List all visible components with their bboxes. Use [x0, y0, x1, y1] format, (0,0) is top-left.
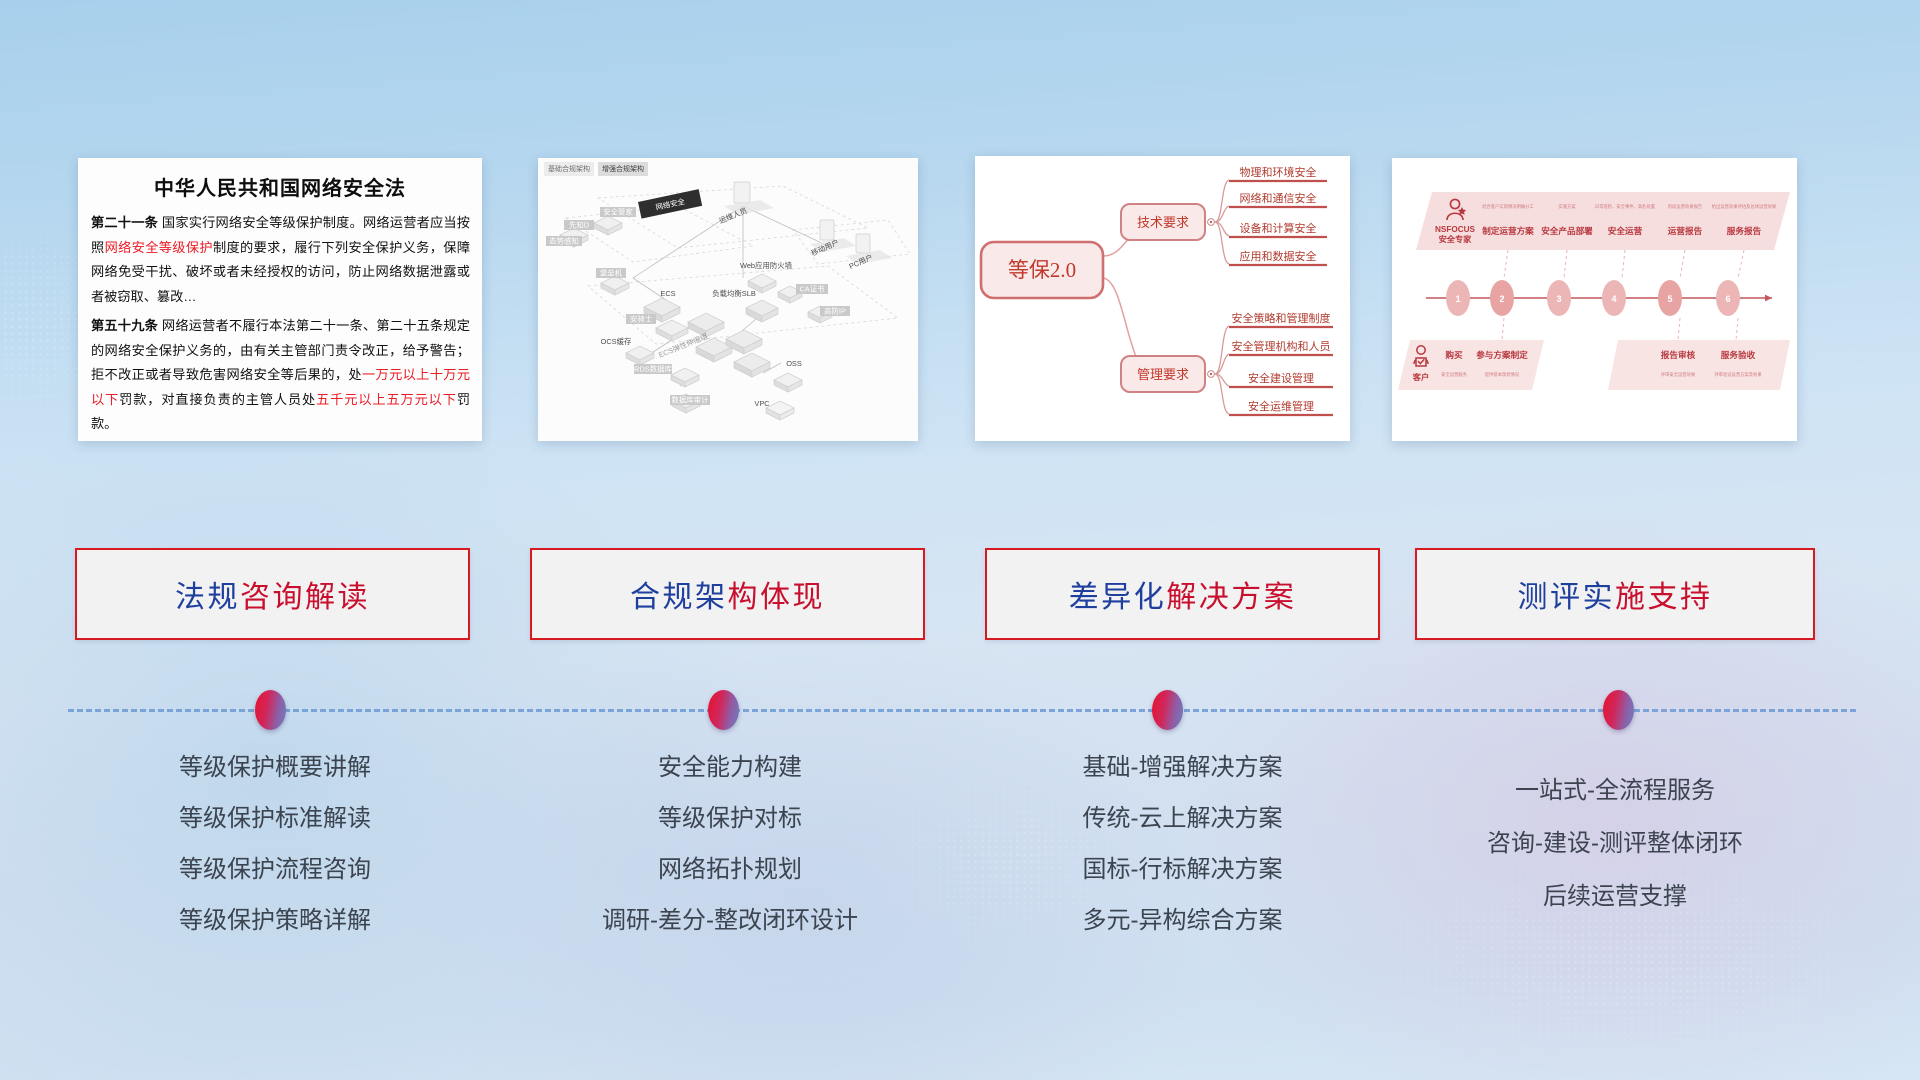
- nsfocus-timeline: NSFOCUS 安全专家 结合客户实际情况明确分工 制定运营方案 实施方案 安全…: [1392, 158, 1797, 441]
- list-item: 等级保护策略详解: [75, 895, 475, 946]
- bottom-title: 参与方案制定: [1476, 349, 1528, 360]
- list-item: 多元-异构综合方案: [980, 895, 1385, 946]
- svg-text:安骑士: 安骑士: [630, 315, 653, 324]
- list-item: 国标-行标解决方案: [980, 844, 1385, 895]
- timeline-dot-3: [1152, 690, 1183, 730]
- timeline-connector: [0, 690, 1920, 730]
- list-item: 等级保护流程咨询: [75, 844, 475, 895]
- heading-label: 差异化解决方案: [1069, 572, 1297, 616]
- law-seg: 罚款，对直接负责的主管人员处: [119, 392, 316, 407]
- bottom-title: 报告审核: [1661, 349, 1696, 360]
- detail-column-evaluation: 一站式-全流程服务 咨询-建设-测评整体闭环 后续运营支撑: [1410, 764, 1820, 923]
- list-item: 等级保护标准解读: [75, 793, 475, 844]
- bottom-title: 服务验收: [1721, 349, 1756, 360]
- top-title: 安全运营: [1608, 225, 1643, 236]
- list-item: 调研-差分-整改闭环设计: [530, 895, 930, 946]
- mindmap-leaf: 网络和通信安全: [1240, 191, 1317, 205]
- mindmap-branch-2-label: 管理要求: [1137, 367, 1189, 382]
- article-number-21: 第二十一条: [91, 215, 158, 230]
- timeline-dashed-line: [68, 709, 1856, 712]
- svg-text:移动用户: 移动用户: [810, 238, 841, 258]
- heading-label: 合规架构体现: [630, 572, 825, 616]
- list-item: 传统-云上解决方案: [980, 793, 1385, 844]
- mindmap-leaf: 安全管理机构和人员: [1232, 339, 1331, 353]
- architecture-diagram: 基础合规架构 增强合规架构: [538, 158, 918, 441]
- heading-part-blue: 差异化: [1069, 581, 1167, 614]
- heading-part-blue: 测评实: [1518, 581, 1616, 614]
- timeline-dot-1: [255, 690, 286, 730]
- detail-column-architecture: 安全能力构建 等级保护对标 网络拓扑规划 调研-差分-整改闭环设计: [530, 742, 930, 946]
- top-title: 服务报告: [1727, 225, 1762, 236]
- architecture-svg: 网络安全: [538, 158, 918, 441]
- law-title: 中华人民共和国网络安全法: [78, 172, 482, 201]
- svg-text:态势感知: 态势感知: [549, 237, 579, 246]
- heading-part-red: 解决方案: [1166, 581, 1296, 614]
- bottom-sub: 提供基本现状情况: [1485, 371, 1520, 378]
- article-number-59: 第五十九条: [91, 318, 158, 333]
- bottom-sub: 安全运营服务: [1441, 371, 1467, 378]
- bottom-title: 购买: [1445, 349, 1463, 360]
- svg-text:安全管家: 安全管家: [603, 208, 633, 217]
- mindmap: 等保2.0 技术要求: [975, 156, 1350, 441]
- heading-part-red: 咨询解读: [240, 581, 370, 614]
- mindmap-leaf: 物理和环境安全: [1240, 165, 1317, 179]
- card-cybersecurity-law[interactable]: 中华人民共和国网络安全法 第二十一条 国家实行网络安全等级保护制度。网络运营者应…: [78, 158, 482, 441]
- top-title: 制定运营方案: [1482, 225, 1534, 236]
- heading-box-compliance-architecture[interactable]: 合规架构体现: [530, 548, 925, 640]
- svg-text:CA证书: CA证书: [799, 285, 825, 294]
- svg-text:高防IP: 高防IP: [824, 307, 846, 316]
- list-item: 等级保护对标: [530, 793, 930, 844]
- svg-text:RDS数据库: RDS数据库: [634, 365, 672, 374]
- svg-text:ECS: ECS: [660, 289, 675, 298]
- list-item: 后续运营支撑: [1410, 870, 1820, 923]
- heading-label: 法规咨询解读: [175, 572, 370, 616]
- heading-label: 测评实施支持: [1518, 572, 1713, 616]
- bottom-sub: 评审安全运营效果: [1661, 371, 1696, 378]
- svg-text:Web应用防火墙: Web应用防火墙: [740, 261, 793, 270]
- heading-part-blue: 法规: [175, 581, 240, 614]
- brand-line-1: NSFOCUS: [1435, 225, 1476, 234]
- list-item: 咨询-建设-测评整体闭环: [1410, 817, 1820, 870]
- heading-box-differentiated-solution[interactable]: 差异化解决方案: [985, 548, 1380, 640]
- law-seg-highlight: 网络安全等级保护: [105, 240, 213, 255]
- list-item: 网络拓扑规划: [530, 844, 930, 895]
- svg-text:VPC: VPC: [754, 399, 770, 408]
- heading-box-evaluation-support[interactable]: 测评实施支持: [1415, 548, 1815, 640]
- step-number: 5: [1667, 294, 1672, 304]
- step-number: 6: [1725, 294, 1730, 304]
- timeline-dot-4: [1603, 690, 1634, 730]
- axis-arrow: [1765, 295, 1772, 302]
- detail-column-solution: 基础-增强解决方案 传统-云上解决方案 国标-行标解决方案 多元-异构综合方案: [980, 742, 1385, 946]
- top-sub: 日常巡检、安全事件、高危处置: [1595, 203, 1656, 210]
- mindmap-svg: 等保2.0 技术要求: [975, 156, 1350, 441]
- heading-row: 法规咨询解读 合规架构体现 差异化解决方案 测评实施支持: [0, 548, 1920, 644]
- bottom-sub: 评审验证运营方案及效果: [1714, 371, 1762, 378]
- step-number: 4: [1611, 294, 1616, 304]
- heading-part-red: 施支持: [1615, 581, 1713, 614]
- heading-part-red: 构体现: [728, 581, 826, 614]
- step-number: 2: [1499, 294, 1504, 304]
- brand-line-2: 安全专家: [1439, 234, 1473, 244]
- card-mindmap-dengbao[interactable]: 等保2.0 技术要求: [975, 156, 1350, 441]
- customer-label: 客户: [1412, 372, 1429, 382]
- list-item: 基础-增强解决方案: [980, 742, 1385, 793]
- step-number: 1: [1455, 294, 1460, 304]
- top-title: 安全产品部署: [1541, 225, 1593, 236]
- svg-text:堡垒机: 堡垒机: [600, 269, 623, 278]
- mindmap-leaf: 安全策略和管理制度: [1232, 311, 1331, 325]
- mindmap-leaf: 应用和数据安全: [1240, 249, 1317, 263]
- svg-text:数据库审计: 数据库审计: [672, 396, 710, 405]
- heading-part-blue: 合规架: [630, 581, 728, 614]
- detail-lists: 等级保护概要讲解 等级保护标准解读 等级保护流程咨询 等级保护策略详解 安全能力…: [0, 742, 1920, 992]
- mindmap-branch-1-label: 技术要求: [1137, 215, 1189, 230]
- timeline-dot-2: [708, 690, 739, 730]
- top-sub: 阶段运营效果报告: [1668, 203, 1703, 210]
- top-title: 运营报告: [1668, 225, 1703, 236]
- list-item: 等级保护概要讲解: [75, 742, 475, 793]
- card-row: 中华人民共和国网络安全法 第二十一条 国家实行网络安全等级保护制度。网络运营者应…: [0, 150, 1920, 440]
- law-body: 第二十一条 国家实行网络安全等级保护制度。网络运营者应当按照网络安全等级保护制度…: [78, 211, 482, 437]
- svg-text:OCS缓存: OCS缓存: [601, 337, 632, 346]
- top-sub: 结合客户实际情况明确分工: [1482, 203, 1534, 210]
- bottom-band-right: [1608, 340, 1790, 390]
- list-item: 安全能力构建: [530, 742, 930, 793]
- mindmap-leaf: 设备和计算安全: [1240, 221, 1317, 235]
- top-band: [1416, 192, 1790, 250]
- nsfocus-timeline-svg: NSFOCUS 安全专家 结合客户实际情况明确分工 制定运营方案 实施方案 安全…: [1392, 158, 1797, 441]
- top-sub: 实施方案: [1558, 203, 1576, 210]
- step-number: 3: [1556, 294, 1561, 304]
- card-cloud-architecture[interactable]: 基础合规架构 增强合规架构: [538, 158, 918, 441]
- heading-box-regulation-consulting[interactable]: 法规咨询解读: [75, 548, 470, 640]
- mindmap-root-label: 等保2.0: [1008, 258, 1076, 282]
- svg-text:OSS: OSS: [786, 359, 802, 368]
- law-paragraph-59: 第五十九条 网络运营者不履行本法第二十一条、第二十五条规定的网络安全保护义务的，…: [91, 314, 470, 437]
- law-seg-highlight: 五千元以上五万元以下: [316, 392, 457, 407]
- detail-column-regulation: 等级保护概要讲解 等级保护标准解读 等级保护流程咨询 等级保护策略详解: [75, 742, 475, 946]
- slide-root: 中华人民共和国网络安全法 第二十一条 国家实行网络安全等级保护制度。网络运营者应…: [0, 0, 1920, 1080]
- card-nsfocus-timeline[interactable]: NSFOCUS 安全专家 结合客户实际情况明确分工 制定运营方案 实施方案 安全…: [1392, 158, 1797, 441]
- svg-text:先知D: 先知D: [569, 221, 589, 230]
- mindmap-leaf: 安全建设管理: [1248, 371, 1314, 385]
- mindmap-leaf: 安全运维管理: [1248, 399, 1314, 413]
- svg-text:负载均衡SLB: 负载均衡SLB: [712, 289, 756, 298]
- law-paragraph-21: 第二十一条 国家实行网络安全等级保护制度。网络运营者应当按照网络安全等级保护制度…: [91, 211, 470, 309]
- top-sub: 给出运营效果评估及总体运营效果: [1712, 203, 1777, 210]
- list-item: 一站式-全流程服务: [1410, 764, 1820, 817]
